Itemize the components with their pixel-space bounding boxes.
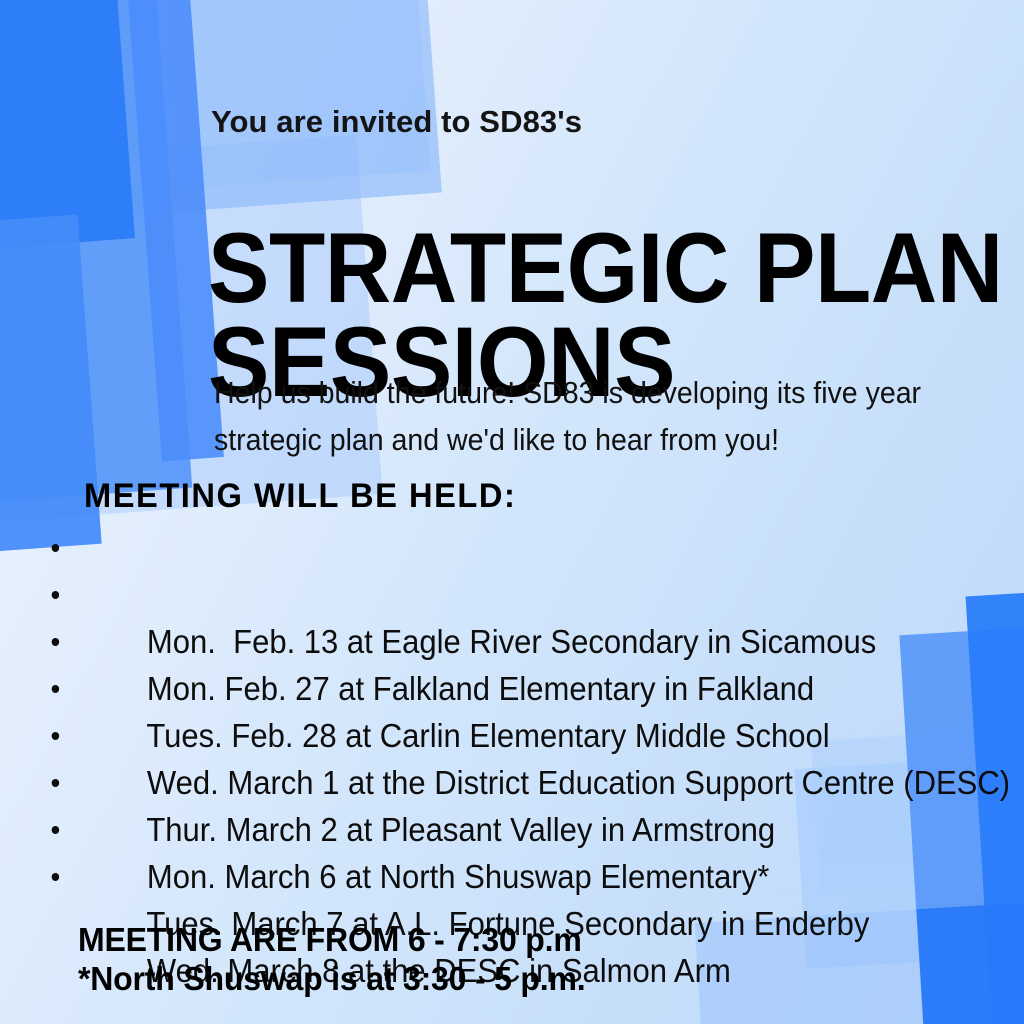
bullet-icon bbox=[52, 826, 60, 834]
list-item: Tues. Feb. 28 at Carlin Elementary Middl… bbox=[46, 618, 920, 665]
bullet-icon bbox=[52, 591, 60, 599]
footer-line-1: MEETING ARE FROM 6 - 7:30 p.m bbox=[78, 921, 585, 960]
list-item: Wed. March 1 at the District Education S… bbox=[46, 665, 920, 712]
list-item: Mon. Feb. 27 at Falkland Elementary in F… bbox=[46, 571, 920, 618]
bullet-icon bbox=[52, 638, 60, 646]
footer-line-2: *North Shuswap is at 3:30 - 5 p.m. bbox=[78, 960, 585, 999]
bullet-icon bbox=[52, 779, 60, 787]
bullet-icon bbox=[52, 685, 60, 693]
bullet-icon bbox=[52, 732, 60, 740]
subtitle-paragraph: Help us build the future! SD83 is develo… bbox=[214, 370, 886, 463]
list-item: Mon. Feb. 13 at Eagle River Secondary in… bbox=[46, 524, 920, 571]
poster-content: You are invited to SD83's STRATEGIC PLAN… bbox=[0, 0, 1024, 1024]
list-item: Tues. March 7 at A.L. Fortune Secondary … bbox=[46, 806, 920, 853]
meeting-list: Mon. Feb. 13 at Eagle River Secondary in… bbox=[46, 524, 976, 900]
list-item: Mon. March 6 at North Shuswap Elementary… bbox=[46, 759, 920, 806]
bullet-icon bbox=[52, 544, 60, 552]
subtitle-line-1: Help us build the future! SD83 is develo… bbox=[214, 370, 886, 417]
list-item: Wed. March 8 at the DESC in Salmon Arm bbox=[46, 853, 920, 900]
meeting-times-footer: MEETING ARE FROM 6 - 7:30 p.m *North Shu… bbox=[78, 921, 585, 998]
subtitle-line-2: strategic plan and we'd like to hear fro… bbox=[214, 417, 886, 464]
list-item: Thur. March 2 at Pleasant Valley in Arms… bbox=[46, 712, 920, 759]
invitation-eyebrow: You are invited to SD83's bbox=[211, 104, 582, 140]
section-heading-meetings: MEETING WILL BE HELD: bbox=[84, 477, 516, 516]
page-title-line-1: STRATEGIC PLAN bbox=[208, 221, 952, 315]
poster-canvas: You are invited to SD83's STRATEGIC PLAN… bbox=[0, 0, 1024, 1024]
bullet-icon bbox=[52, 873, 60, 881]
